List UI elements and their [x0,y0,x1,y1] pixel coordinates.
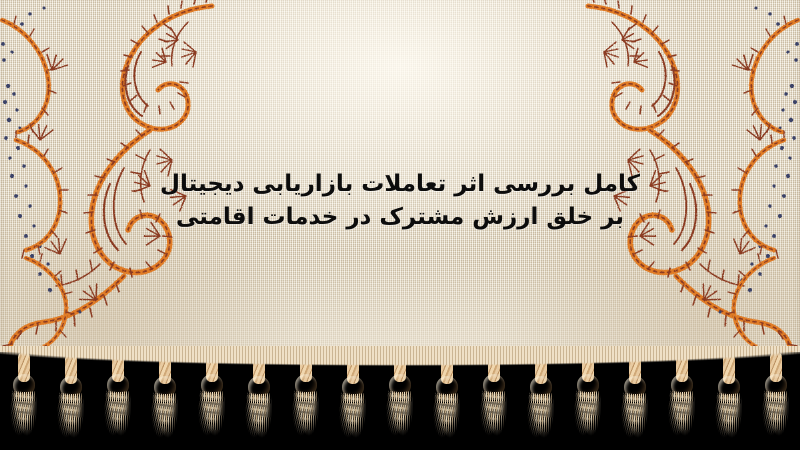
title-card-canvas: کامل بررسی اثر تعاملات بازاریابی دیجیتال… [0,0,800,450]
cloth-hem-edge [0,346,800,368]
tassel-skirt [100,391,129,440]
title-line-1: کامل بررسی اثر تعاملات بازاریابی دیجیتال [0,168,800,201]
title-block: کامل بررسی اثر تعاملات بازاریابی دیجیتال… [0,168,800,234]
tassel-skirt [53,393,82,442]
tassel-skirt [147,393,176,442]
title-line-2: بر خلق ارزش مشترک در خدمات اقامتی [0,201,800,234]
tassel-skirt [6,391,35,440]
